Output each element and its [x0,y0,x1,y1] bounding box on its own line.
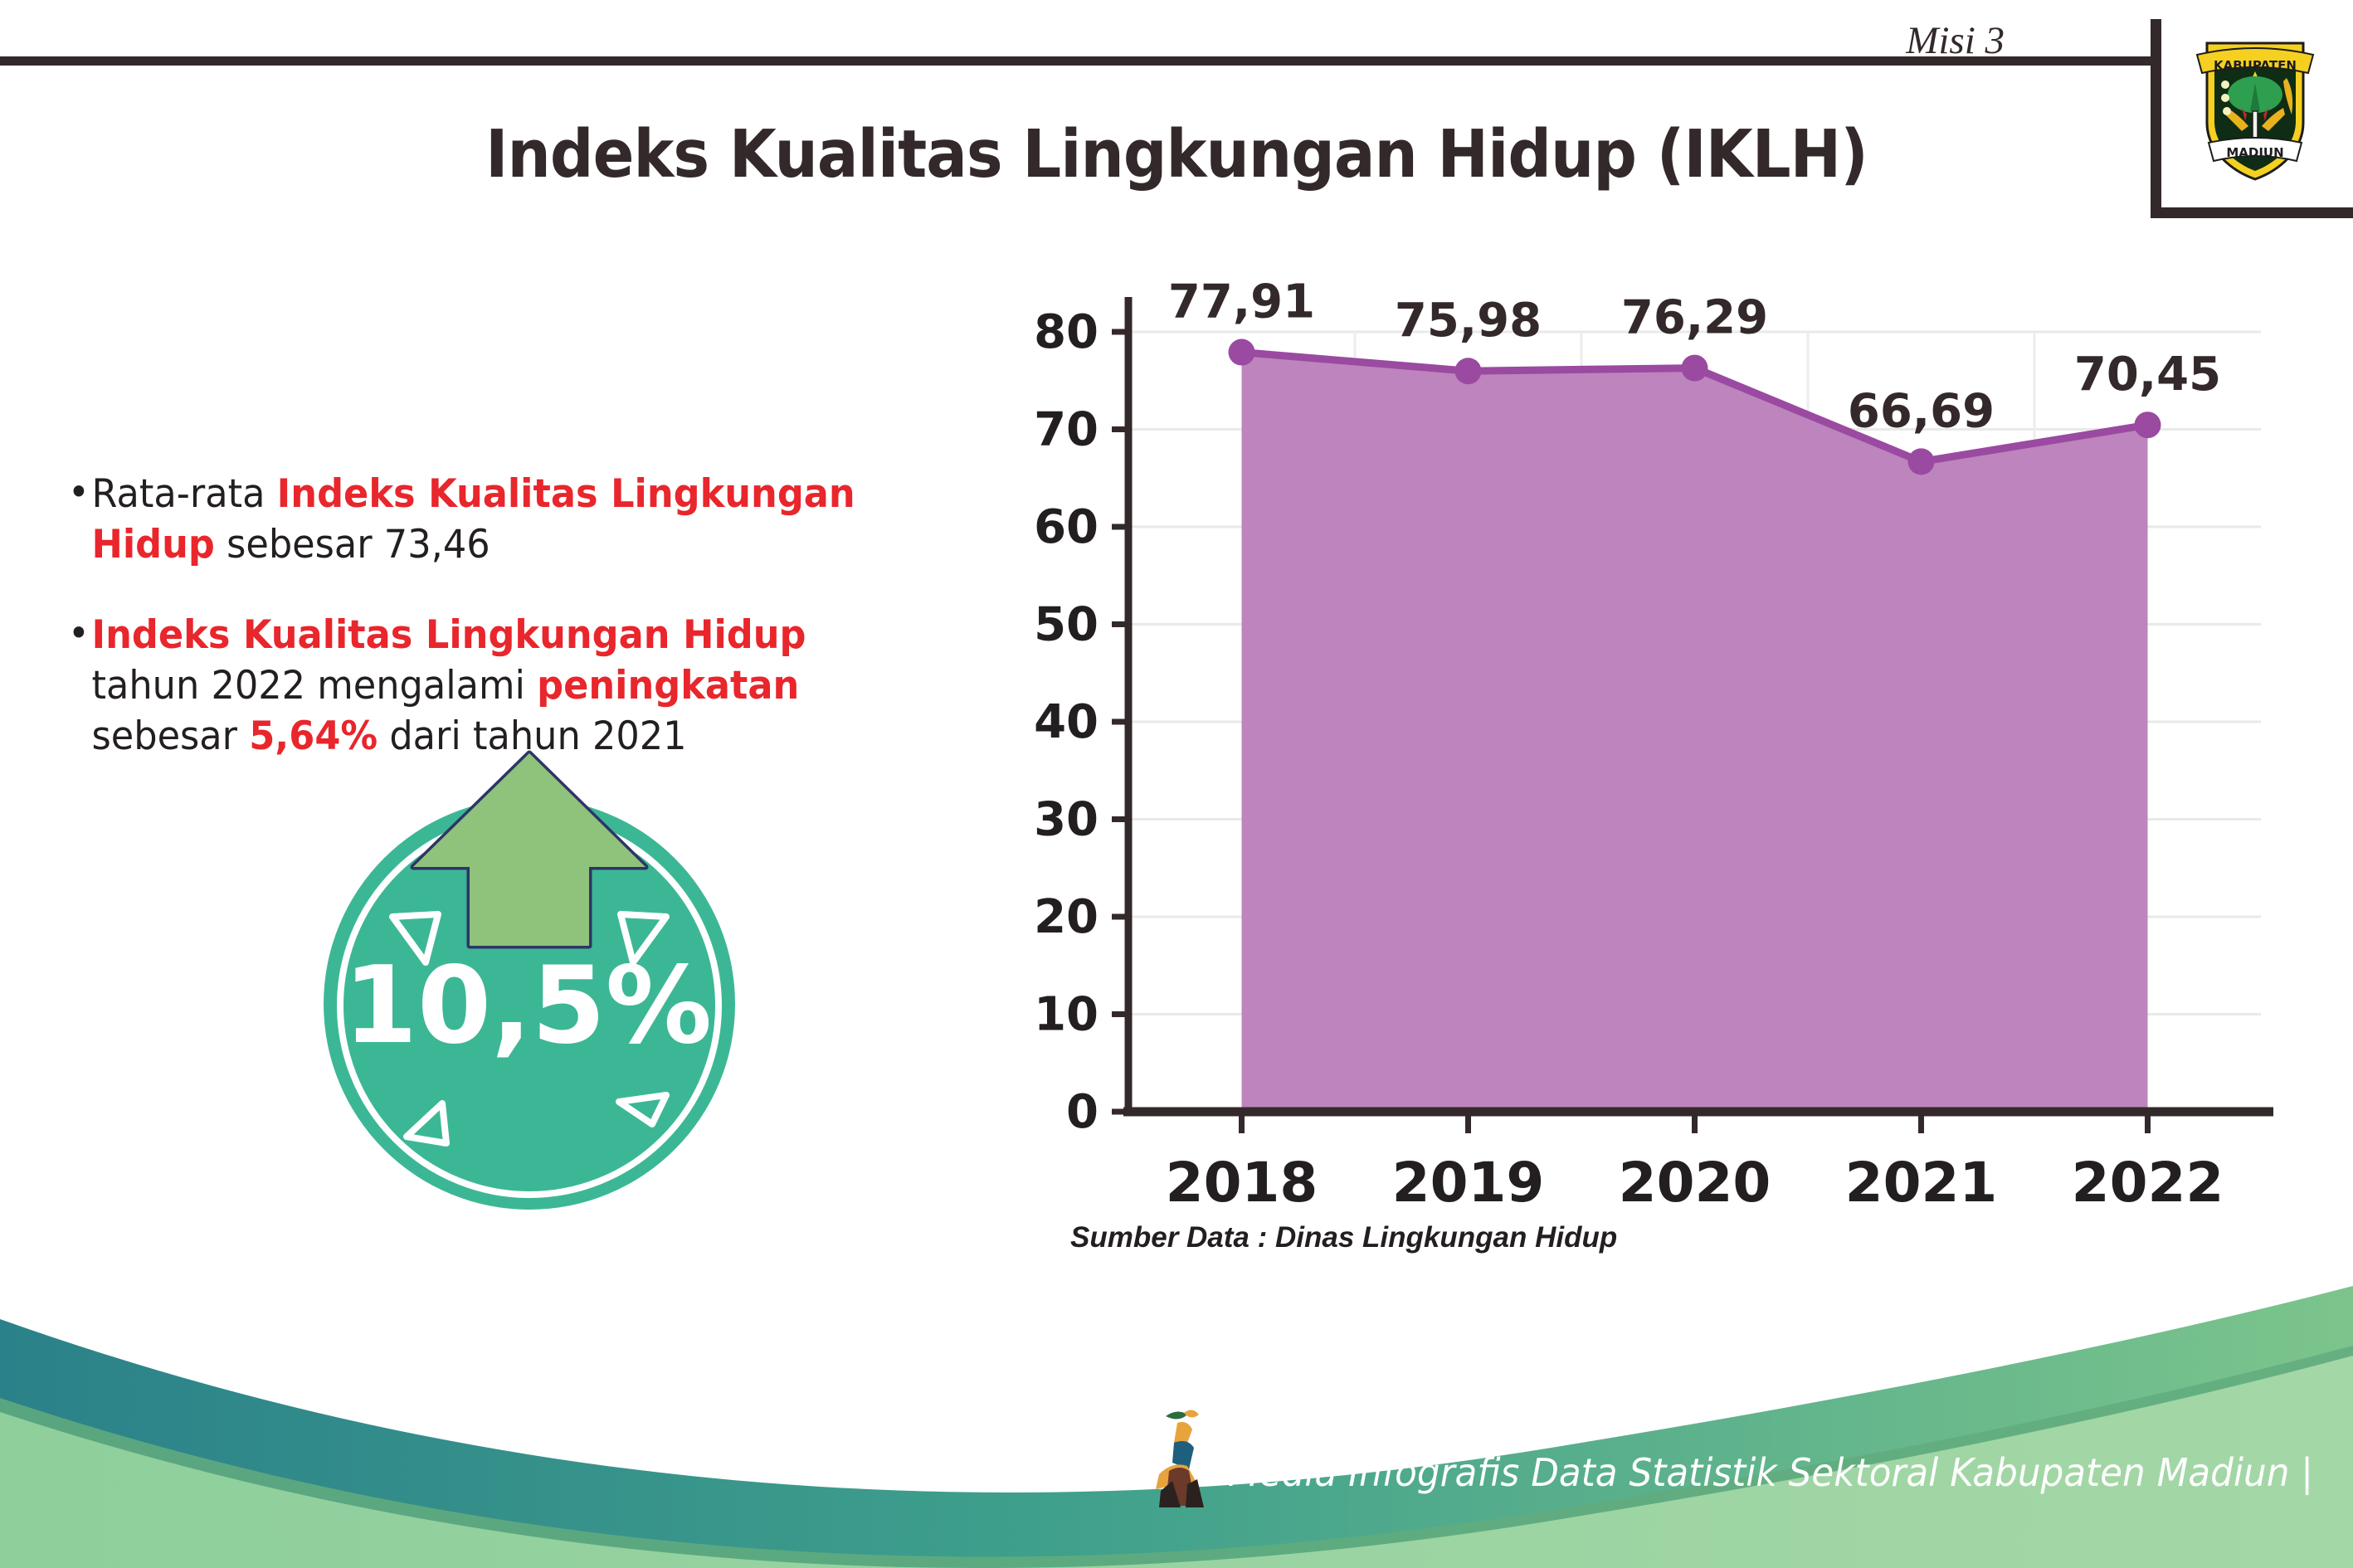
x-tick-label: 2020 [1619,1151,1771,1215]
increase-badge: 10,5% [314,747,745,1211]
data-label: 77,91 [1168,282,1315,329]
x-tick-label: 2019 [1392,1151,1545,1215]
badge-value-label: 10,5% [343,944,712,1068]
bullet-segment: Rata-rata [92,471,277,517]
logo-top-text: KABUPATEN [2214,58,2297,73]
y-tick-label: 10 [1034,988,1099,1042]
bullet-segment: sebesar [92,713,250,759]
bullet-item-1: • Rata-rata Indeks Kualitas Lingkungan H… [68,469,919,570]
y-tick-label: 60 [1034,500,1099,554]
footer-text: Media Infografis Data Statistik Sektoral… [1228,1450,2313,1495]
bullet-dot-icon: • [68,614,90,652]
iklh-area-chart: 77,9175,9876,2966,6970,45010203040506070… [979,282,2273,1286]
y-tick-label: 50 [1034,598,1099,652]
bullet-segment: Indeks Kualitas Lingkungan Hidup [92,612,806,658]
header-bracket-horizontal [2151,207,2353,218]
y-tick-label: 0 [1066,1085,1099,1139]
data-label: 70,45 [2074,348,2221,402]
data-point [1682,355,1708,382]
bullet-segment: tahun 2022 mengalami [92,663,538,709]
misi-label: Misi 3 [1906,18,2005,63]
series-area [1242,353,2148,1112]
x-tick-label: 2022 [2072,1151,2224,1215]
y-tick-label: 30 [1034,793,1099,847]
dancer-logo-icon [1141,1398,1228,1510]
infographic-page: Misi 3 KABUPATEN MADIUN Indeks Kualitas … [0,0,2353,1568]
y-tick-label: 80 [1034,305,1099,359]
data-point [1229,339,1255,366]
data-point [1455,358,1482,384]
bullet-segment: peningkatan [537,663,799,709]
data-label: 66,69 [1848,384,1995,438]
bullet-text-2: Indeks Kualitas Lingkungan Hidup tahun 2… [92,612,806,759]
data-label: 76,29 [1621,291,1768,345]
bullet-segment: sebesar 73,46 [215,522,490,567]
x-tick-label: 2021 [1845,1151,1998,1215]
data-point [1908,448,1935,475]
data-label: 75,98 [1395,294,1542,348]
data-point [2135,411,2161,438]
bullet-dot-icon: • [68,473,90,511]
footer: Media Infografis Data Statistik Sektoral… [0,1269,2353,1568]
y-tick-label: 70 [1034,403,1099,457]
x-tick-label: 2018 [1166,1151,1318,1215]
source-note: Sumber Data : Dinas Lingkungan Hidup [1070,1221,1617,1254]
bullet-item-2: • Indeks Kualitas Lingkungan Hidup tahun… [68,610,919,762]
y-tick-label: 40 [1034,695,1099,749]
bullet-text-1: Rata-rata Indeks Kualitas Lingkungan Hid… [92,471,855,567]
page-title: Indeks Kualitas Lingkungan Hidup (IKLH) [82,116,2270,192]
y-tick-label: 20 [1034,890,1099,944]
header-rule [0,56,2151,66]
